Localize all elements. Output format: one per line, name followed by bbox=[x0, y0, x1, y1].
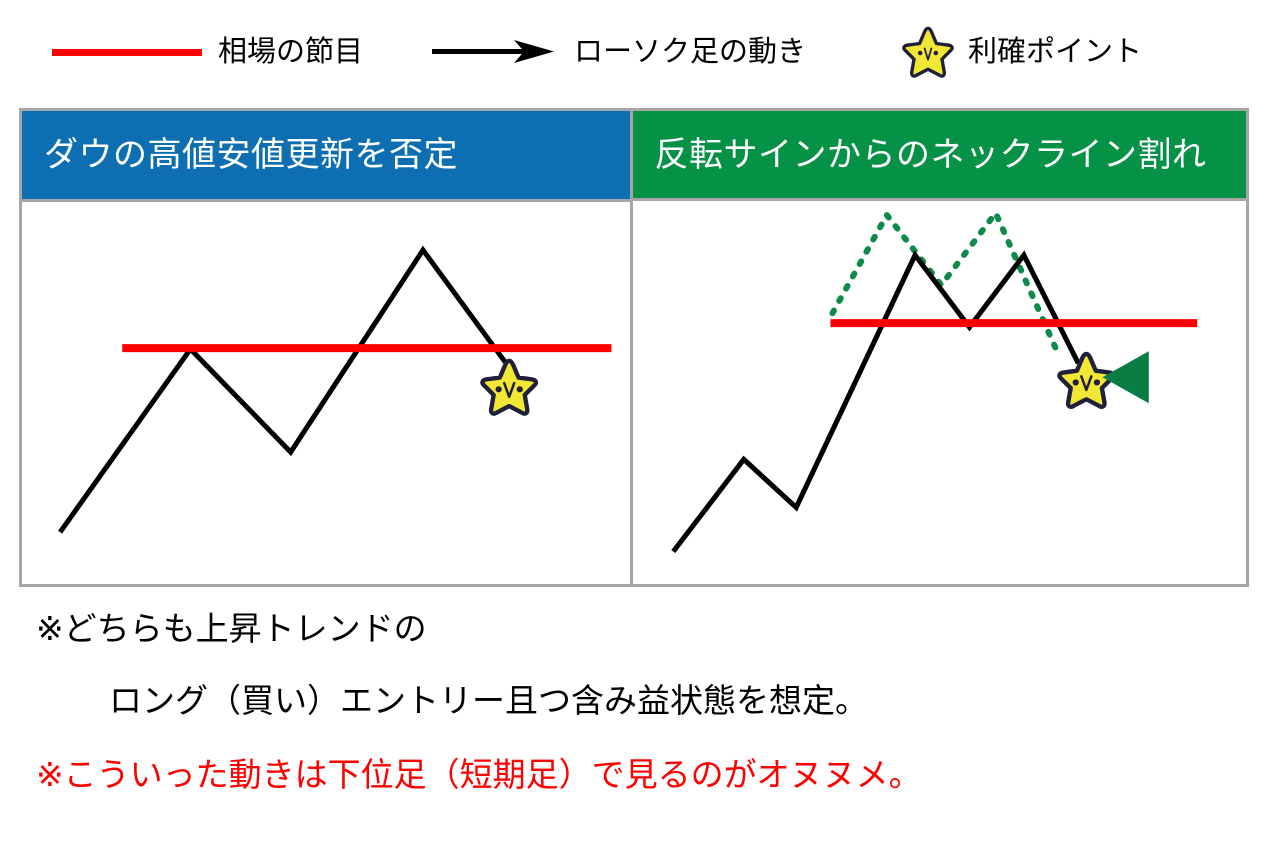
take-profit-star-icon bbox=[482, 361, 536, 414]
note-line-3: ※こういった動きは下位足（短期足）で見るのがオヌヌメ。 bbox=[36, 758, 922, 791]
legend-item-candle-move: ローソク足の動き bbox=[432, 32, 806, 72]
legend-label-level-line: 相場の節目 bbox=[218, 38, 363, 67]
note-line-2: ロング（買い）エントリー且つ含み益状態を想定。 bbox=[76, 684, 868, 717]
red-line-icon bbox=[52, 49, 202, 56]
legend-item-level-line: 相場の節目 bbox=[52, 32, 363, 72]
panel-left-header: ダウの高値安値更新を否定 bbox=[22, 111, 630, 202]
figure-root: 相場の節目 ローソク足の動き 利確ポイント bbox=[0, 0, 1268, 853]
shifted-dotted-path bbox=[832, 213, 1056, 349]
panel-left-title: ダウの高値安値更新を否定 bbox=[44, 138, 458, 172]
legend: 相場の節目 ローソク足の動き 利確ポイント bbox=[0, 0, 1268, 100]
panel-right: 反転サインからのネックライン割れ bbox=[633, 111, 1247, 584]
legend-item-take-profit: 利確ポイント bbox=[900, 32, 1142, 72]
black-arrow-icon bbox=[432, 37, 560, 67]
price-path bbox=[60, 250, 505, 532]
panel-left-chart bbox=[22, 202, 630, 584]
legend-label-candle-move: ローソク足の動き bbox=[574, 38, 806, 67]
note-line-1: ※どちらも上昇トレンドの bbox=[36, 612, 427, 645]
panel-right-chart bbox=[633, 201, 1247, 584]
take-profit-star-icon bbox=[1059, 354, 1113, 407]
panel-left: ダウの高値安値更新を否定 bbox=[22, 111, 633, 584]
comparison-table: ダウの高値安値更新を否定 bbox=[19, 108, 1249, 587]
legend-label-take-profit: 利確ポイント bbox=[968, 38, 1142, 67]
panel-right-header: 反転サインからのネックライン割れ bbox=[633, 111, 1247, 201]
panel-right-title: 反転サインからのネックライン割れ bbox=[655, 138, 1207, 172]
break-arrow-icon bbox=[1102, 352, 1148, 404]
yellow-star-icon bbox=[900, 25, 956, 81]
price-path bbox=[673, 256, 1078, 552]
